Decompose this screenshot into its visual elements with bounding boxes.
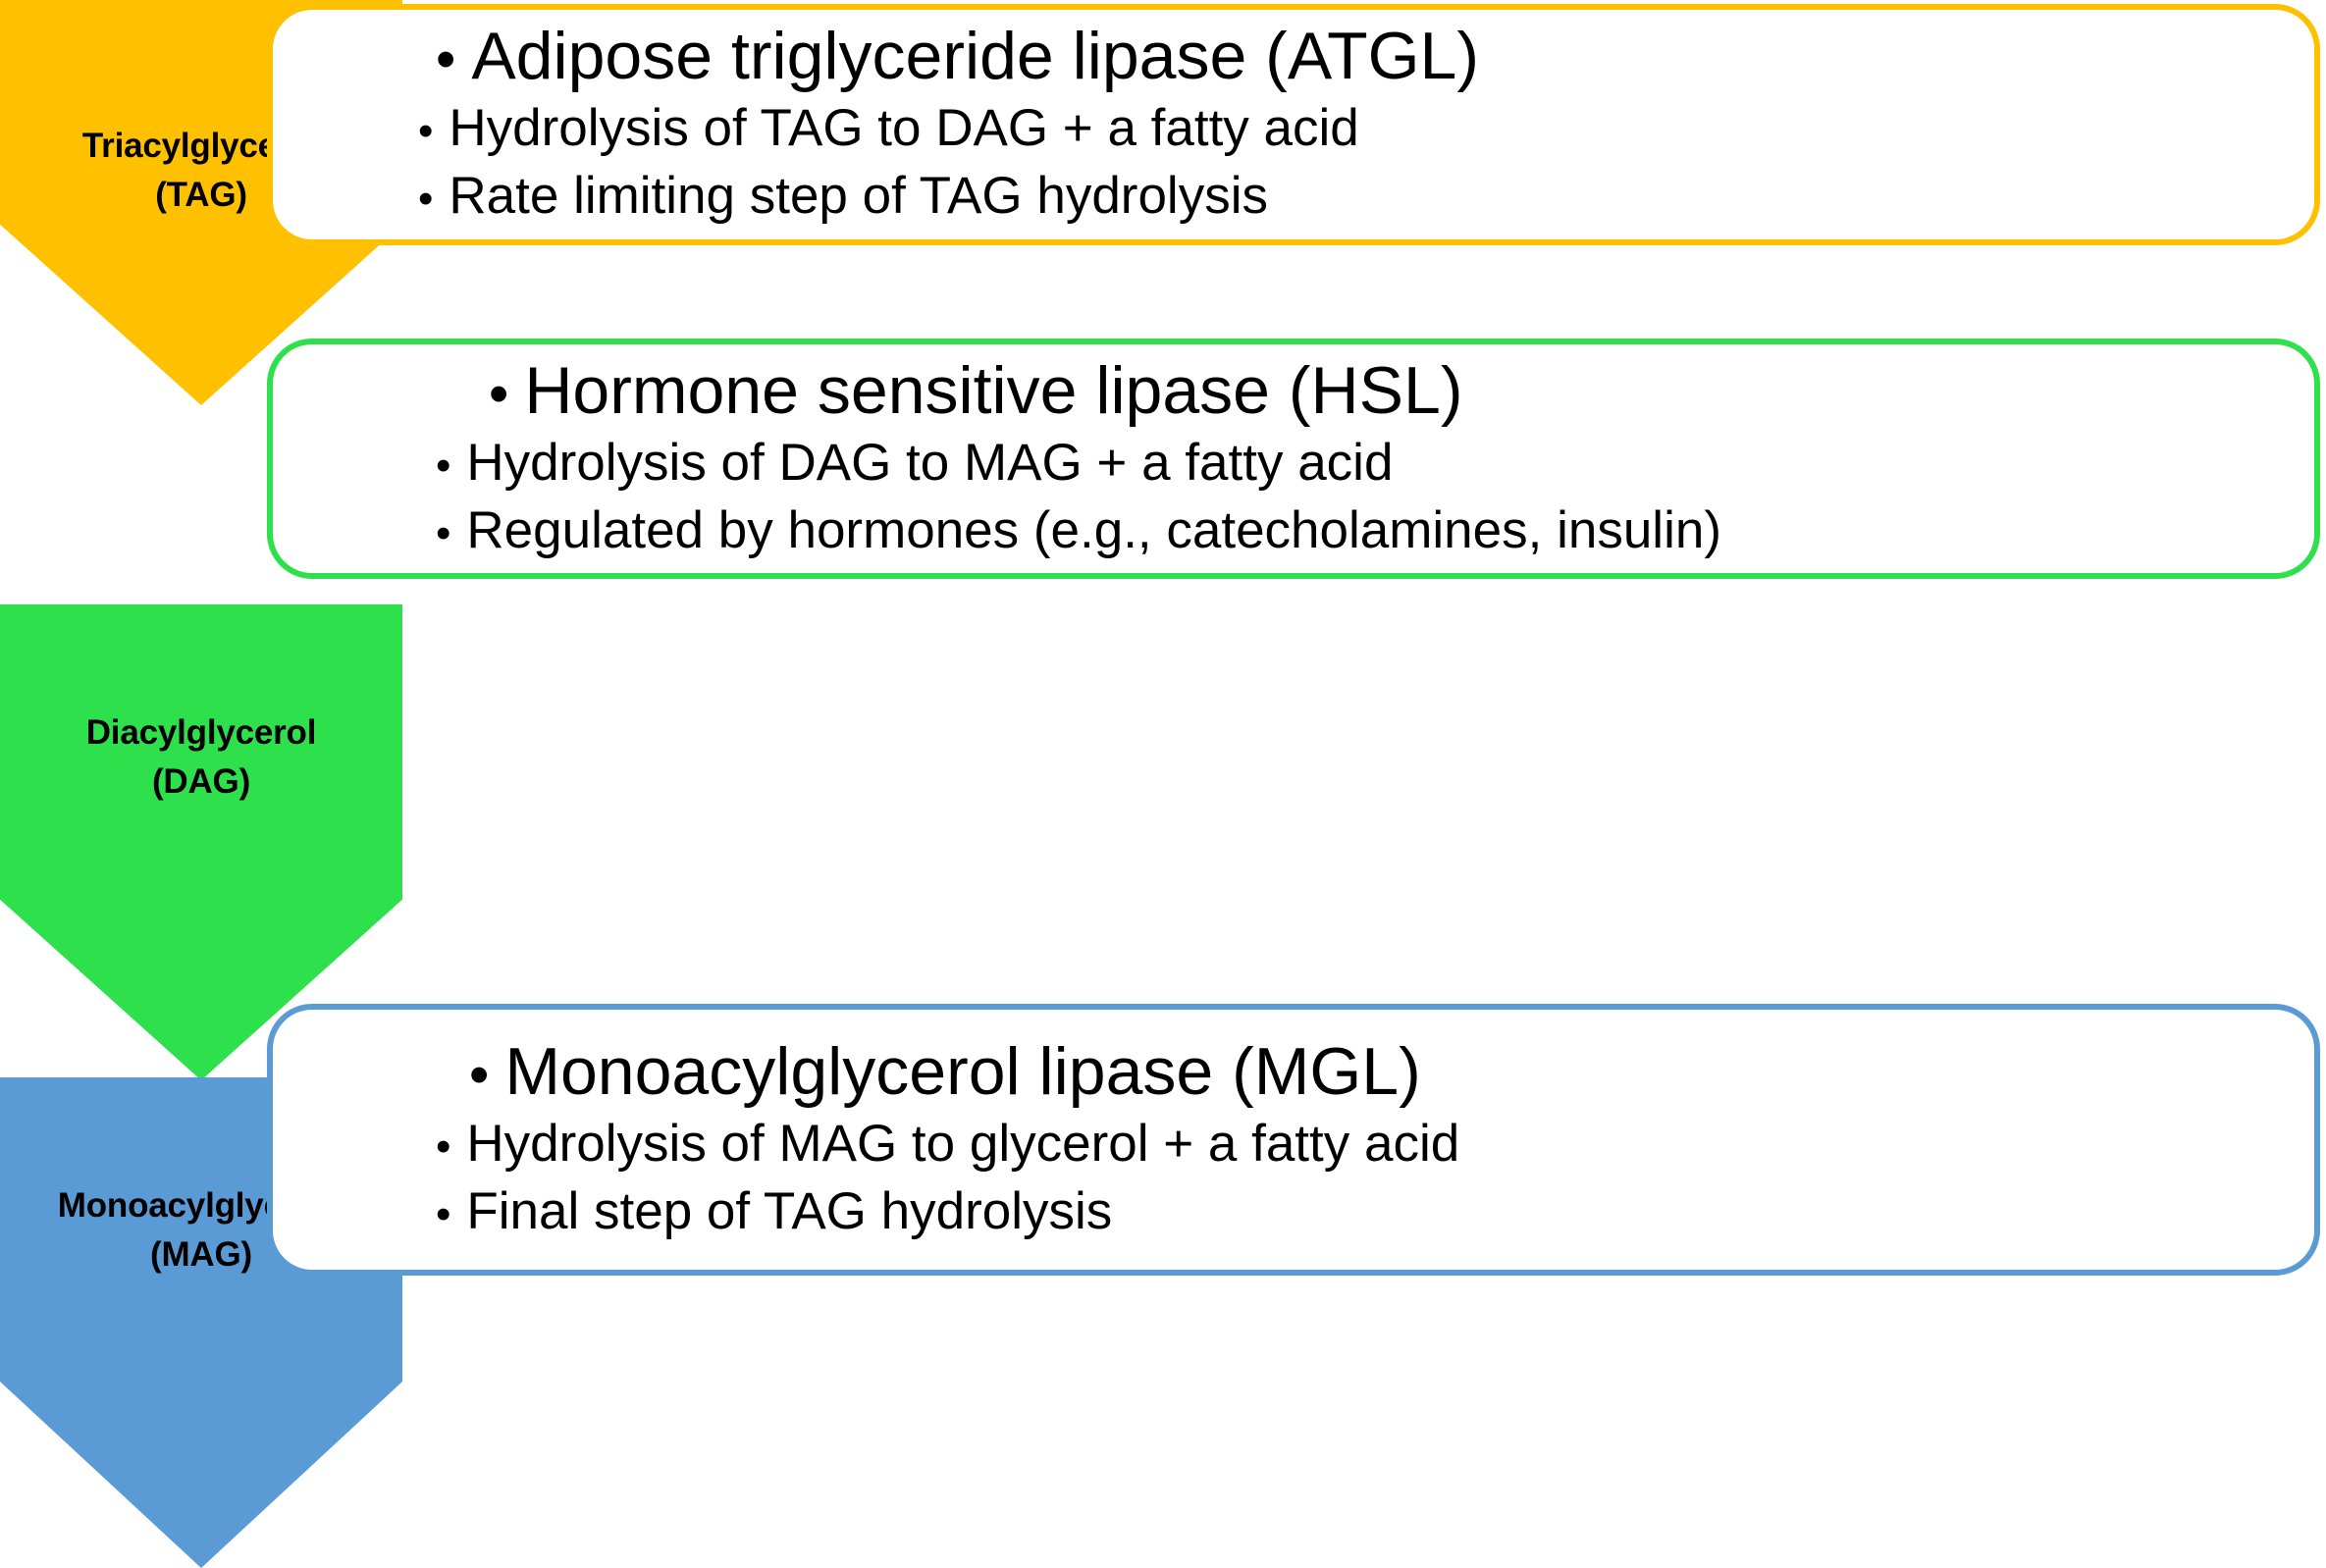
panel-hsl-enzyme-text: Hormone sensitive lipase (HSL) [524,353,1462,428]
panel-atgl: • Adipose triglyceride lipase (ATGL) • H… [267,4,2320,245]
chevron-label-group-dag: Diacylglycerol (DAG) [0,604,402,806]
panel-atgl-enzyme-line: • Adipose triglyceride lipase (ATGL) [418,19,2289,93]
bullet-icon: • [436,1119,450,1175]
bullet-icon: • [469,1044,489,1108]
bullet-icon: • [436,1186,450,1242]
panel-mgl-detail-2: • Final step of TAG hydrolysis [418,1178,2289,1246]
panel-atgl-detail-1: • Hydrolysis of TAG to DAG + a fatty aci… [418,95,2289,163]
panel-hsl-detail-2: • Regulated by hormones (e.g., catechola… [418,497,2289,565]
panel-mgl-detail-1: • Hydrolysis of MAG to glycerol + a fatt… [418,1111,2289,1178]
bullet-icon: • [418,171,433,227]
panel-mgl-enzyme-line: • Monoacylglycerol lipase (MGL) [418,1034,2289,1109]
panel-atgl-detail-2: • Rate limiting step of TAG hydrolysis [418,163,2289,231]
panel-mgl-content: • Monoacylglycerol lipase (MGL) • Hydrol… [273,1034,2314,1246]
panel-hsl: • Hormone sensitive lipase (HSL) • Hydro… [267,339,2320,579]
panel-mgl-detail-2-text: Final step of TAG hydrolysis [466,1178,1112,1246]
bullet-icon: • [436,28,455,92]
panel-hsl-detail-1: • Hydrolysis of DAG to MAG + a fatty aci… [418,430,2289,497]
panel-hsl-detail-1-text: Hydrolysis of DAG to MAG + a fatty acid [466,430,1393,497]
panel-hsl-content: • Hormone sensitive lipase (HSL) • Hydro… [273,353,2314,565]
bullet-icon: • [436,438,450,494]
panel-mgl: • Monoacylglycerol lipase (MGL) • Hydrol… [267,1004,2320,1276]
panel-mgl-enzyme-text: Monoacylglycerol lipase (MGL) [504,1034,1420,1109]
chevron-substrate-name-dag: Diacylglycerol [0,708,402,758]
bullet-icon: • [418,103,433,159]
panel-hsl-detail-2-text: Regulated by hormones (e.g., catecholami… [466,497,1721,565]
panel-atgl-detail-1-text: Hydrolysis of TAG to DAG + a fatty acid [449,95,1358,163]
panel-atgl-content: • Adipose triglyceride lipase (ATGL) • H… [273,19,2314,231]
diagram-canvas: Triacylglycerol (TAG) Diacylglycerol (DA… [0,0,2326,1568]
bullet-icon: • [489,363,508,427]
bullet-icon: • [436,505,450,561]
panel-atgl-enzyme-text: Adipose triglyceride lipase (ATGL) [471,19,1479,93]
panel-mgl-detail-1-text: Hydrolysis of MAG to glycerol + a fatty … [466,1111,1459,1178]
panel-atgl-detail-2-text: Rate limiting step of TAG hydrolysis [449,163,1268,231]
panel-hsl-enzyme-line: • Hormone sensitive lipase (HSL) [418,353,2289,428]
chevron-substrate-abbrev-dag: (DAG) [0,758,402,807]
